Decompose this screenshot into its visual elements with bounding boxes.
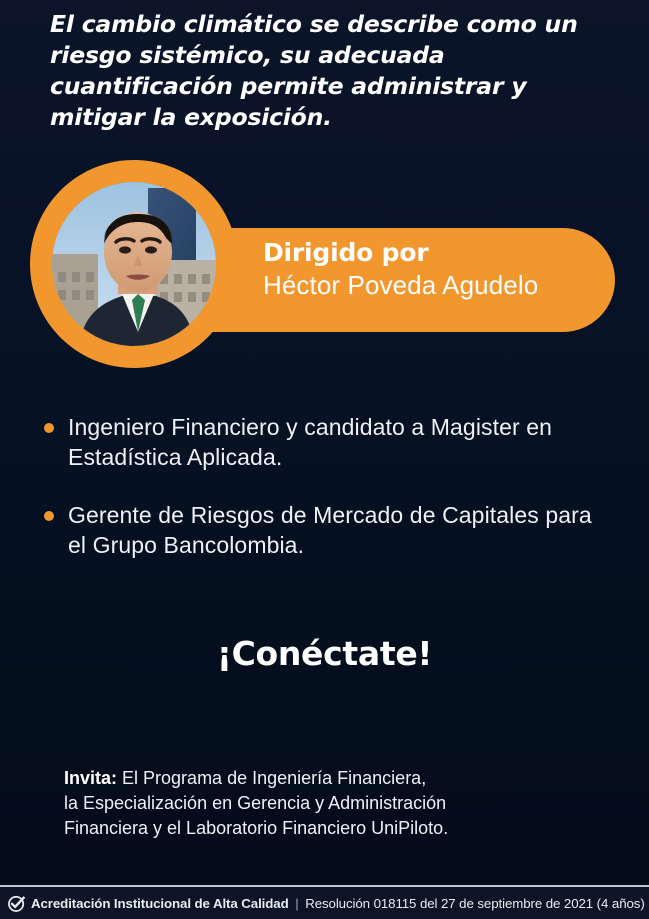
accreditation-label: Acreditación Institucional de Alta Calid… xyxy=(31,896,289,911)
invitation-line-1: Invita: El Programa de Ingeniería Financ… xyxy=(64,766,594,791)
invitation-text-1: El Programa de Ingeniería Financiera, xyxy=(122,768,426,788)
event-poster: El cambio climático se describe como un … xyxy=(0,0,649,919)
footer-separator: | xyxy=(295,896,298,911)
invitation-line-3: Financiera y el Laboratorio Financiero U… xyxy=(64,816,594,841)
invitation-line-2: la Especialización en Gerencia y Adminis… xyxy=(64,791,594,816)
list-item-text: Ingeniero Financiero y candidato a Magis… xyxy=(68,414,552,470)
page-title: El cambio climático se describe como un … xyxy=(50,9,610,133)
speaker-label: Dirigido por xyxy=(263,238,613,268)
invitation-label: Invita: xyxy=(64,768,117,788)
bullet-dot-icon xyxy=(44,423,54,433)
bullet-dot-icon xyxy=(44,511,54,521)
avatar-portrait-image xyxy=(52,182,216,346)
list-item: Ingeniero Financiero y candidato a Magis… xyxy=(44,412,614,472)
avatar-ring xyxy=(30,160,238,368)
list-item-text: Gerente de Riesgos de Mercado de Capital… xyxy=(68,502,592,558)
speaker-name: Héctor Poveda Agudelo xyxy=(263,269,613,302)
accreditation-footer: Acreditación Institucional de Alta Calid… xyxy=(0,885,649,919)
speaker-text: Dirigido por Héctor Poveda Agudelo xyxy=(263,238,613,302)
invitation-block: Invita: El Programa de Ingeniería Financ… xyxy=(64,766,594,841)
speaker-bio-list: Ingeniero Financiero y candidato a Magis… xyxy=(44,412,614,588)
accreditation-text: Acreditación Institucional de Alta Calid… xyxy=(31,896,645,911)
check-circle-icon xyxy=(7,894,26,913)
resolution-text: Resolución 018115 del 27 de septiembre d… xyxy=(305,896,644,911)
avatar xyxy=(52,182,216,346)
call-to-action-text: ¡Conéctate! xyxy=(0,634,649,673)
speaker-band: Dirigido por Héctor Poveda Agudelo xyxy=(30,160,619,375)
list-item: Gerente de Riesgos de Mercado de Capital… xyxy=(44,500,614,560)
